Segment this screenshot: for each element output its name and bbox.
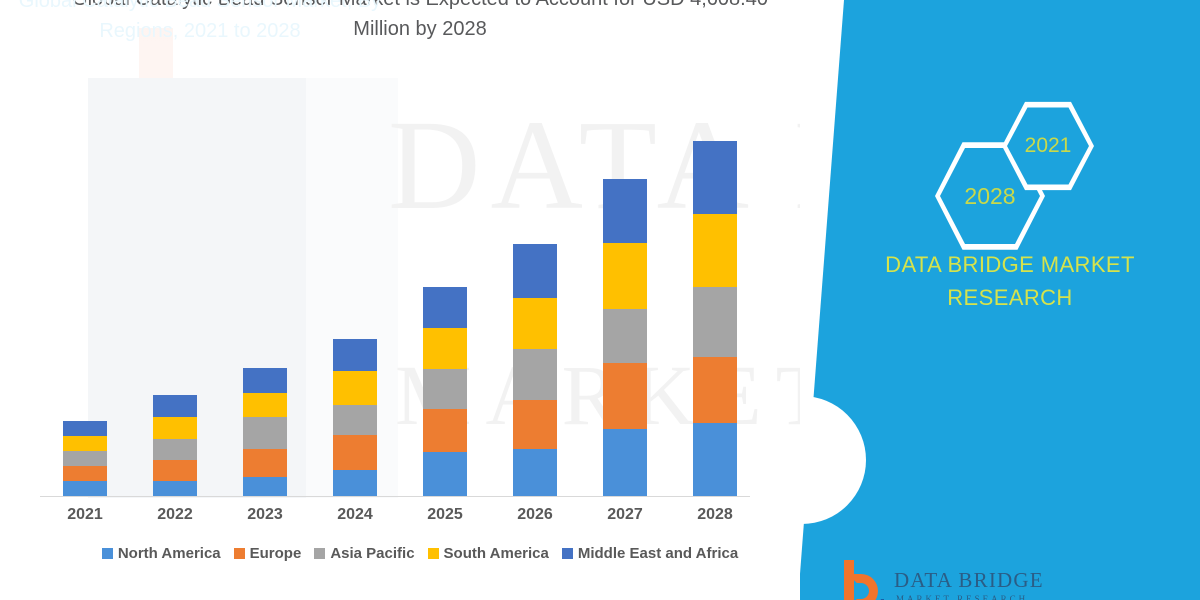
bar-segment (603, 309, 647, 363)
bar-group (513, 244, 557, 496)
x-axis-line (40, 496, 750, 497)
logo-wordmark: DATA BRIDGE (894, 568, 1044, 593)
bar-segment (423, 452, 467, 496)
bar-segment (423, 409, 467, 452)
bar-group (153, 395, 197, 496)
x-tick-label: 2024 (310, 506, 400, 524)
bar-segment (693, 357, 737, 424)
legend-item[interactable]: North America (102, 545, 221, 562)
bar-segment (333, 405, 377, 435)
bar-group (423, 287, 467, 496)
bar-segment (333, 339, 377, 371)
bar-segment (603, 363, 647, 430)
bar-segment (603, 179, 647, 243)
bar-segment (63, 421, 107, 436)
bar-segment (243, 449, 287, 477)
legend-item[interactable]: Europe (234, 545, 302, 562)
legend-swatch-icon (562, 548, 573, 559)
bar-segment (243, 417, 287, 449)
x-axis-tick-labels: 20212022202320242025202620272028 (40, 506, 760, 536)
bar-group (63, 421, 107, 496)
bar-segment (243, 393, 287, 417)
bar-segment (693, 214, 737, 287)
hexagon-2021-label: 2021 (1025, 134, 1072, 158)
panel-circle-accent (800, 396, 866, 524)
legend-label: South America (444, 545, 549, 562)
bar-segment (693, 287, 737, 357)
bar-group (693, 141, 737, 496)
bar-segment (333, 470, 377, 496)
chart-panel: DATA BRIDGE MARKET RESEARCH Global Catal… (0, 0, 860, 600)
legend-label: Middle East and Africa (578, 545, 738, 562)
bar-group (333, 339, 377, 496)
bar-segment (693, 141, 737, 214)
bar-segment (513, 244, 557, 298)
bar-segment (153, 460, 197, 481)
bar-segment (333, 371, 377, 405)
bar-segment (423, 328, 467, 369)
bar-segment (423, 287, 467, 329)
bar-segment (63, 436, 107, 451)
x-tick-label: 2025 (400, 506, 490, 524)
x-tick-label: 2026 (490, 506, 580, 524)
bar-segment (153, 439, 197, 459)
x-tick-label: 2022 (130, 506, 220, 524)
legend-item[interactable]: South America (428, 545, 549, 562)
bar-segment (603, 243, 647, 310)
bar-segment (63, 466, 107, 481)
bar-segment (513, 449, 557, 496)
bar-segment (513, 349, 557, 401)
bar-segment (693, 423, 737, 496)
plot-area (40, 120, 760, 496)
legend-swatch-icon (102, 548, 113, 559)
legend-item[interactable]: Asia Pacific (314, 545, 414, 562)
bar-segment (333, 435, 377, 470)
legend-label: North America (118, 545, 221, 562)
legend-swatch-icon (428, 548, 439, 559)
legend-item[interactable]: Middle East and Africa (562, 545, 738, 562)
legend-swatch-icon (314, 548, 325, 559)
x-tick-label: 2028 (670, 506, 760, 524)
bar-segment (153, 481, 197, 496)
bar-segment (513, 400, 557, 449)
logo-subwordmark: MARKET RESEARCH (896, 594, 1028, 600)
chart-legend: North AmericaEuropeAsia PacificSouth Ame… (40, 540, 800, 566)
hexagon-2021: 2021 (1002, 100, 1094, 192)
data-bridge-logo: DATA BRIDGE MARKET RESEARCH (838, 558, 1088, 600)
bar-segment (513, 298, 557, 348)
bar-segment (603, 429, 647, 496)
x-tick-label: 2021 (40, 506, 130, 524)
legend-swatch-icon (234, 548, 245, 559)
bar-segment (243, 477, 287, 496)
infographic-root: DATA BRIDGE MARKET RESEARCH Global Catal… (0, 0, 1200, 600)
bar-group (603, 179, 647, 496)
legend-label: Asia Pacific (330, 545, 414, 562)
bar-segment (423, 369, 467, 409)
brand-name-line2: RESEARCH (820, 281, 1200, 314)
bar-segment (153, 417, 197, 440)
legend-label: Europe (250, 545, 302, 562)
hexagon-2028-label: 2028 (964, 183, 1015, 210)
x-tick-label: 2023 (220, 506, 310, 524)
logo-b-mark-icon (840, 560, 882, 600)
panel-title: Global Catalytic Bead Sensor Market, By … (12, 0, 388, 46)
brand-name: DATA BRIDGE MARKET RESEARCH (820, 248, 1200, 314)
bar-group (243, 368, 287, 496)
bar-segment (153, 395, 197, 416)
bar-segment (243, 368, 287, 393)
x-tick-label: 2027 (580, 506, 670, 524)
bar-segment (63, 481, 107, 496)
brand-name-line1: DATA BRIDGE MARKET (820, 248, 1200, 281)
bar-segment (63, 451, 107, 466)
